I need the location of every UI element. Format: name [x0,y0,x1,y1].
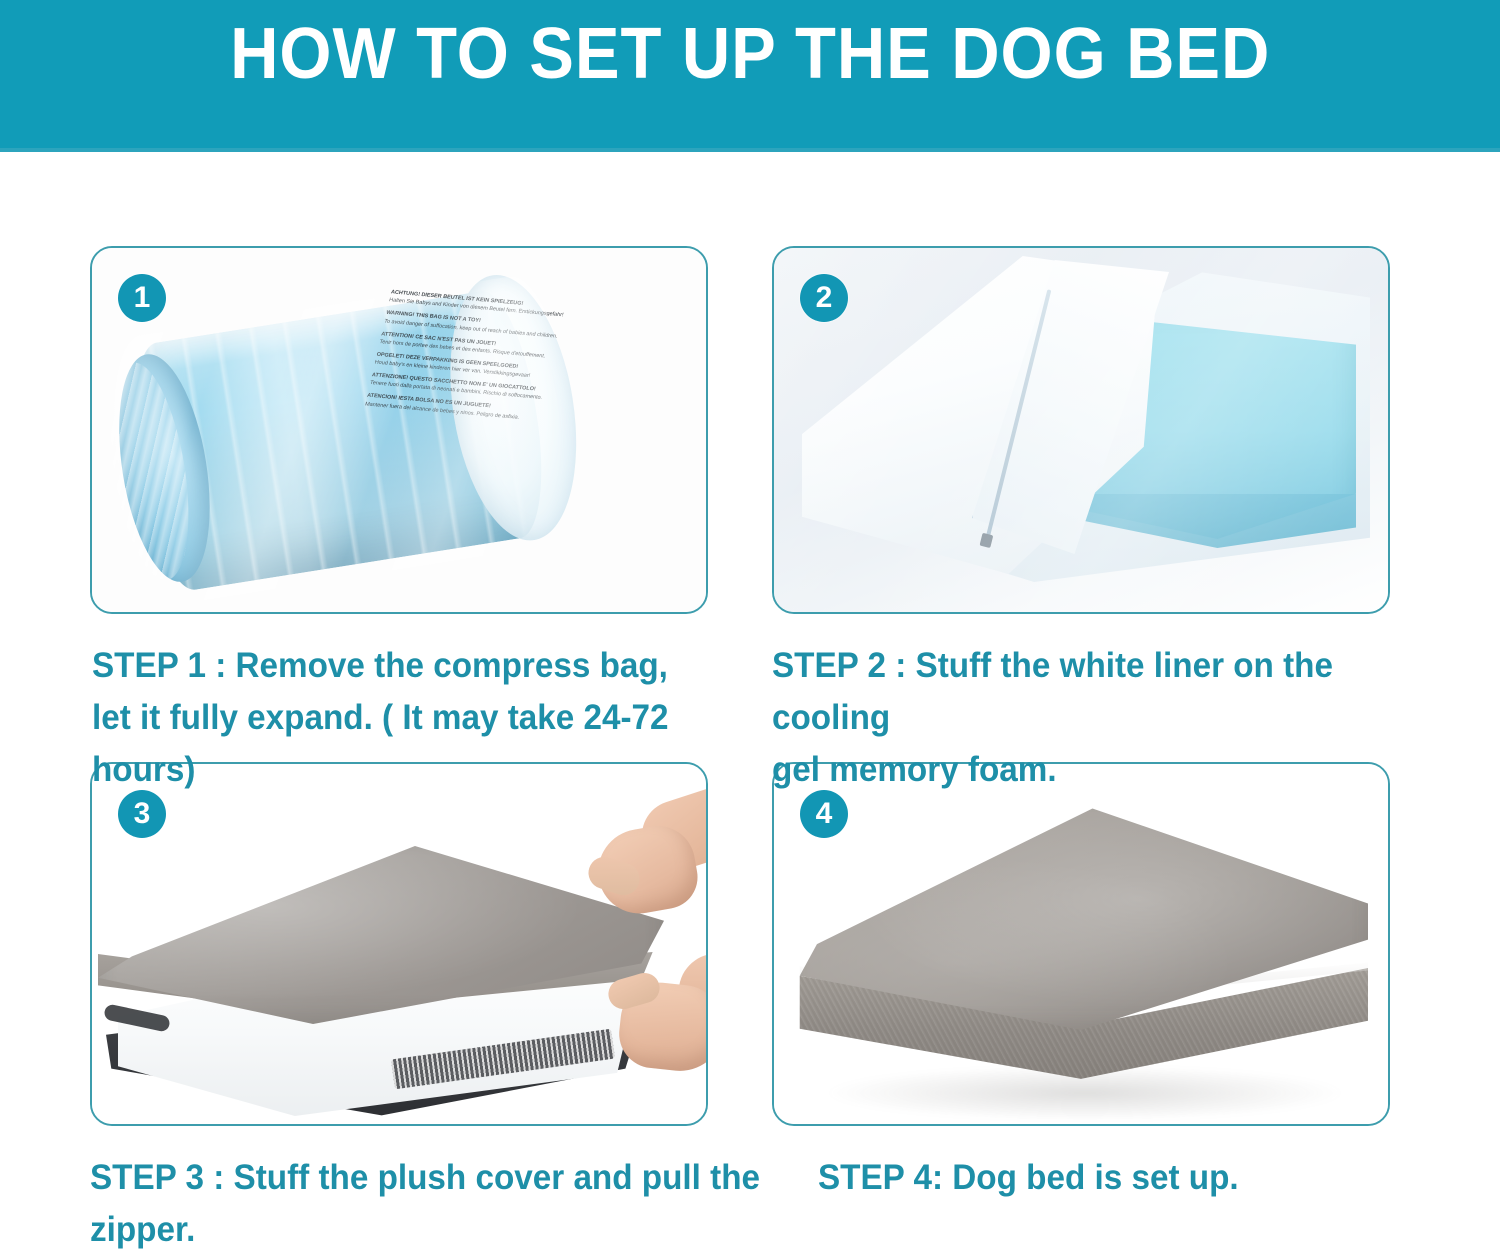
step-cell-2: 2 [772,246,1390,614]
header-banner: HOW TO SET UP THE DOG BED [0,0,1500,152]
step-2-caption: STEP 2 : Stuff the white liner on the co… [772,640,1418,795]
steps-grid: ACHTUNG! DIESER BEUTEL IST KEIN SPIELZEU… [0,152,1500,1216]
step-badge-3: 3 [118,790,166,838]
hand-upper [554,794,706,944]
step-1-photo-card: ACHTUNG! DIESER BEUTEL IST KEIN SPIELZEU… [90,246,708,614]
step-4-photo-card: 4 [772,762,1390,1126]
step-cell-3: 3 [90,762,708,1126]
plush-cover-pull-photo [92,764,706,1124]
zipper-pull [980,533,994,548]
step-3-caption: STEP 3 : Stuff the plush cover and pull … [90,1152,784,1256]
step-3-photo-card: 3 [90,762,708,1126]
finished-dog-bed-photo [774,764,1388,1124]
page-title: HOW TO SET UP THE DOG BED [230,18,1270,90]
step-1-caption: STEP 1 : Remove the compress bag, let it… [92,640,719,795]
step-badge-4: 4 [800,790,848,838]
step-badge-2: 2 [800,274,848,322]
step-4-caption: STEP 4: Dog bed is set up. [818,1152,1388,1204]
step-2-photo-card: 2 [772,246,1390,614]
liner-over-gel-foam-photo [774,248,1388,612]
step-cell-1: ACHTUNG! DIESER BEUTEL IST KEIN SPIELZEU… [90,246,708,614]
step-cell-4: 4 [772,762,1390,1126]
finished-dog-bed [794,804,1368,1100]
step-badge-1: 1 [118,274,166,322]
hand-lower [586,958,706,1108]
compressed-foam-roll-photo: ACHTUNG! DIESER BEUTEL IST KEIN SPIELZEU… [92,248,706,612]
